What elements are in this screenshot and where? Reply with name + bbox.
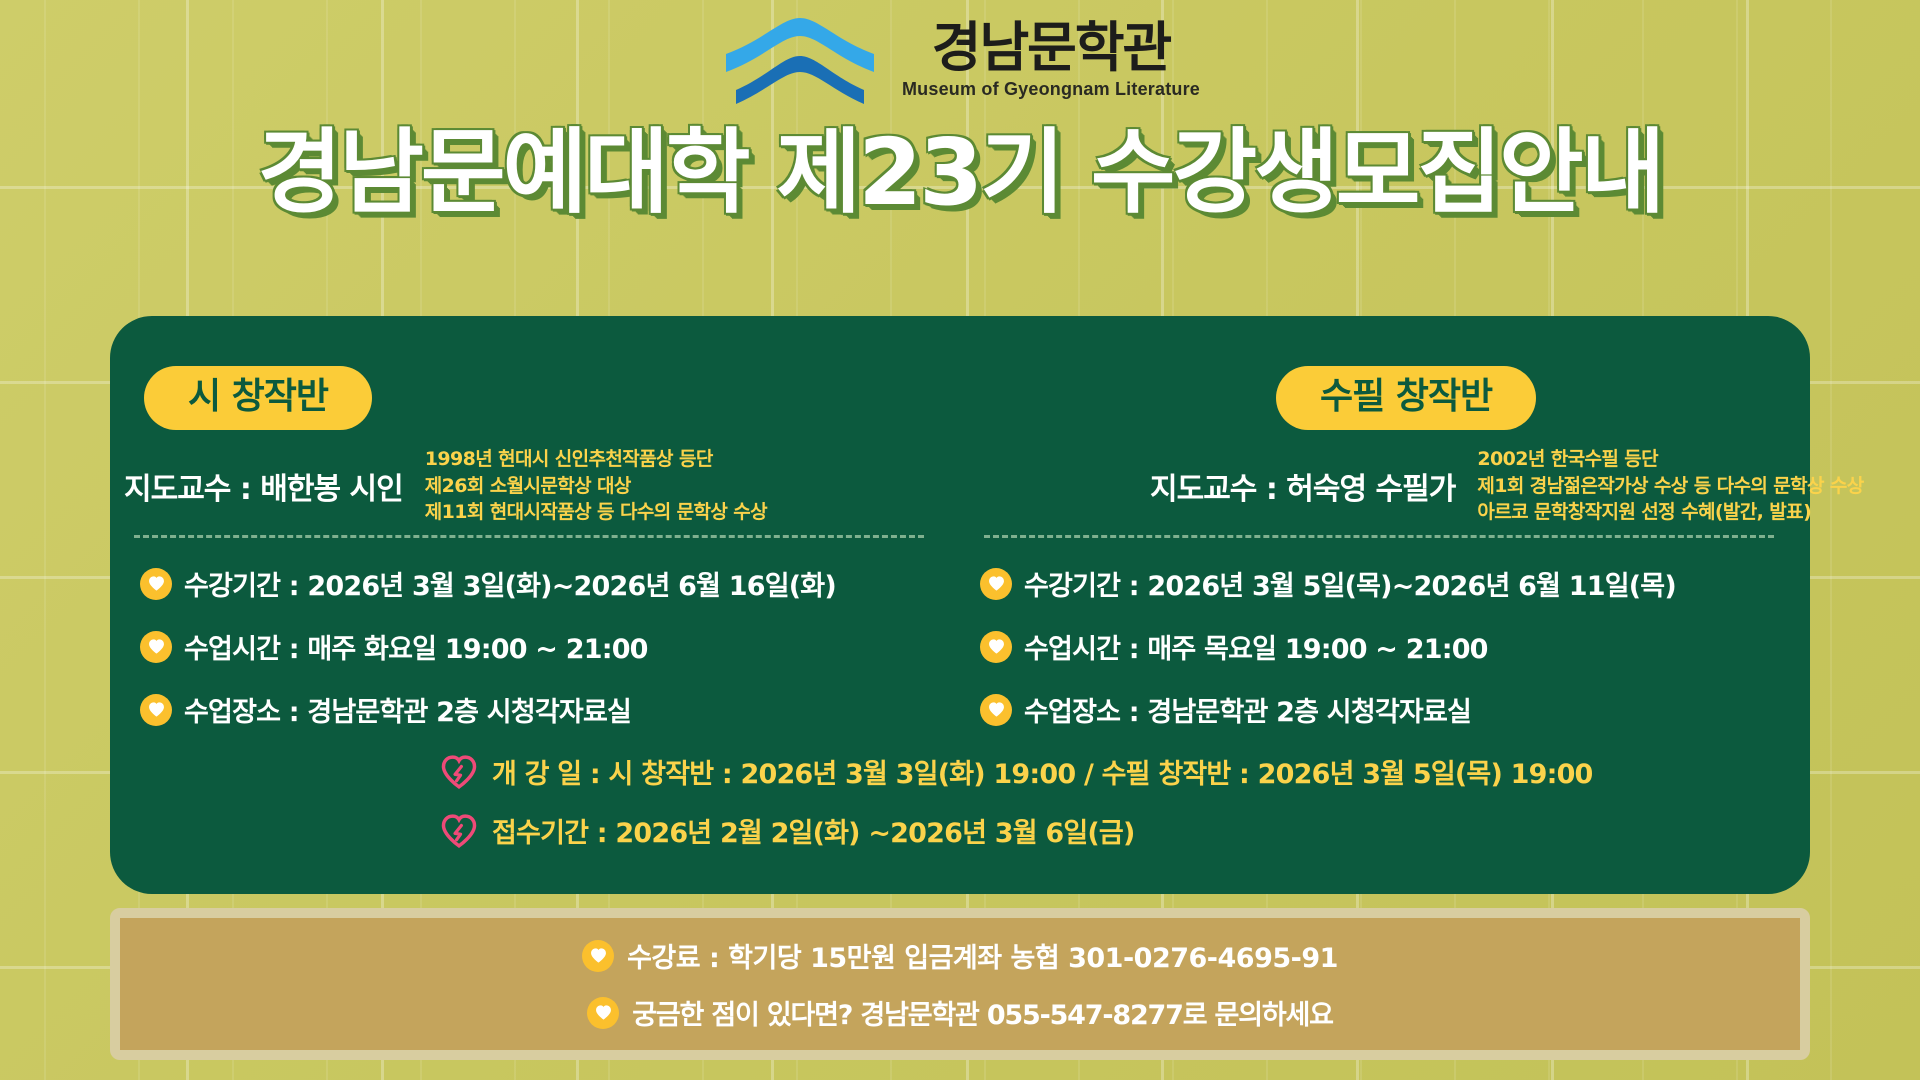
credential-line: 제11회 현대시작품상 등 다수의 문학상 수상 <box>425 499 767 525</box>
professor-name-essay: 지도교수 : 허숙영 수필가 <box>1150 464 1455 508</box>
course-badge-essay: 수필 창작반 <box>1276 366 1536 430</box>
info-row: 수업시간 : 매주 화요일 19:00 ~ 21:00 <box>140 627 960 666</box>
highlight-text: 접수기간 : 2026년 2월 2일(화) ~2026년 3월 6일(금) <box>492 811 1135 850</box>
museum-logo: 경남문학관 Museum of Gyeongnam Literature <box>0 14 1920 106</box>
heart-icon <box>587 997 619 1029</box>
footer-row-contact: 궁금한 점이 있다면? 경남문학관 055-547-8277로 문의하세요 <box>587 993 1333 1032</box>
course-info-list-poetry: 수강기간 : 2026년 3월 3일(화)~2026년 6월 16일(화) 수업… <box>110 564 960 729</box>
poster-canvas: 경남문학관 Museum of Gyeongnam Literature 경남문… <box>0 0 1920 1080</box>
logo-korean-text: 경남문학관 <box>932 20 1170 75</box>
highlight-rows: 개 강 일 : 시 창작반 : 2026년 3월 3일(화) 19:00 / 수… <box>440 752 1593 850</box>
heart-icon <box>980 631 1012 663</box>
highlight-row-start-date: 개 강 일 : 시 창작반 : 2026년 3월 3일(화) 19:00 / 수… <box>440 752 1593 791</box>
info-text: 수업장소 : 경남문학관 2층 시청각자료실 <box>1024 690 1471 729</box>
poetry-professor-row: 지도교수 : 배한봉 시인 1998년 현대시 신인추천작품상 등단 제26회 … <box>110 446 960 525</box>
info-text: 수업시간 : 매주 목요일 19:00 ~ 21:00 <box>1024 627 1488 666</box>
footer-row-fee: 수강료 : 학기당 15만원 입금계좌 농협 301-0276-4695-91 <box>582 936 1338 975</box>
credential-line: 제26회 소월시문학상 대상 <box>425 473 767 499</box>
footer-text-fee: 수강료 : 학기당 15만원 입금계좌 농협 301-0276-4695-91 <box>627 936 1338 975</box>
museum-roof-icon <box>720 14 880 106</box>
professor-credentials-essay: 2002년 한국수필 등단 제1회 경남젊은작가상 수상 등 다수의 문학상 수… <box>1477 446 1863 525</box>
info-row: 수강기간 : 2026년 3월 5일(목)~2026년 6월 11일(목) <box>980 564 1810 603</box>
info-row: 수강기간 : 2026년 3월 3일(화)~2026년 6월 16일(화) <box>140 564 960 603</box>
info-row: 수업시간 : 매주 목요일 19:00 ~ 21:00 <box>980 627 1810 666</box>
footer-text-contact: 궁금한 점이 있다면? 경남문학관 055-547-8277로 문의하세요 <box>632 993 1333 1032</box>
page-title: 경남문예대학 제23기 수강생모집안내 <box>0 125 1920 222</box>
essay-professor-row: 지도교수 : 허숙영 수필가 2002년 한국수필 등단 제1회 경남젊은작가상… <box>960 446 1810 525</box>
course-badge-poetry: 시 창작반 <box>144 366 372 430</box>
highlight-text: 개 강 일 : 시 창작반 : 2026년 3월 3일(화) 19:00 / 수… <box>492 752 1593 791</box>
poetry-badge-row: 시 창작반 <box>110 366 960 430</box>
professor-name-poetry: 지도교수 : 배한봉 시인 <box>124 464 403 508</box>
divider-essay <box>984 535 1774 538</box>
essay-badge-row: 수필 창작반 <box>960 366 1810 430</box>
heart-icon <box>140 568 172 600</box>
info-text: 수강기간 : 2026년 3월 3일(화)~2026년 6월 16일(화) <box>184 564 836 603</box>
heart-icon <box>980 694 1012 726</box>
info-row: 수업장소 : 경남문학관 2층 시청각자료실 <box>140 690 960 729</box>
info-text: 수업시간 : 매주 화요일 19:00 ~ 21:00 <box>184 627 648 666</box>
logo-english-text: Museum of Gyeongnam Literature <box>902 79 1200 100</box>
credential-line: 1998년 현대시 신인추천작품상 등단 <box>425 446 767 472</box>
info-row: 수업장소 : 경남문학관 2층 시청각자료실 <box>980 690 1810 729</box>
professor-credentials-poetry: 1998년 현대시 신인추천작품상 등단 제26회 소월시문학상 대상 제11회… <box>425 446 767 525</box>
credential-line: 아르코 문학창작지원 선정 수혜(발간, 발표) <box>1477 499 1863 525</box>
divider-poetry <box>134 535 924 538</box>
heart-icon <box>980 568 1012 600</box>
credential-line: 2002년 한국수필 등단 <box>1477 446 1863 472</box>
info-text: 수강기간 : 2026년 3월 5일(목)~2026년 6월 11일(목) <box>1024 564 1676 603</box>
highlight-row-application-period: 접수기간 : 2026년 2월 2일(화) ~2026년 3월 6일(금) <box>440 811 1593 850</box>
heart-icon <box>140 631 172 663</box>
course-info-list-essay: 수강기간 : 2026년 3월 5일(목)~2026년 6월 11일(목) 수업… <box>960 564 1810 729</box>
credential-line: 제1회 경남젊은작가상 수상 등 다수의 문학상 수상 <box>1477 473 1863 499</box>
info-text: 수업장소 : 경남문학관 2층 시청각자료실 <box>184 690 631 729</box>
heart-icon <box>582 940 614 972</box>
courses-card: 시 창작반 지도교수 : 배한봉 시인 1998년 현대시 신인추천작품상 등단… <box>110 316 1810 894</box>
footer-panel: 수강료 : 학기당 15만원 입금계좌 농협 301-0276-4695-91 … <box>110 908 1810 1060</box>
pink-heart-icon <box>440 813 478 849</box>
heart-icon <box>140 694 172 726</box>
pink-heart-icon <box>440 754 478 790</box>
